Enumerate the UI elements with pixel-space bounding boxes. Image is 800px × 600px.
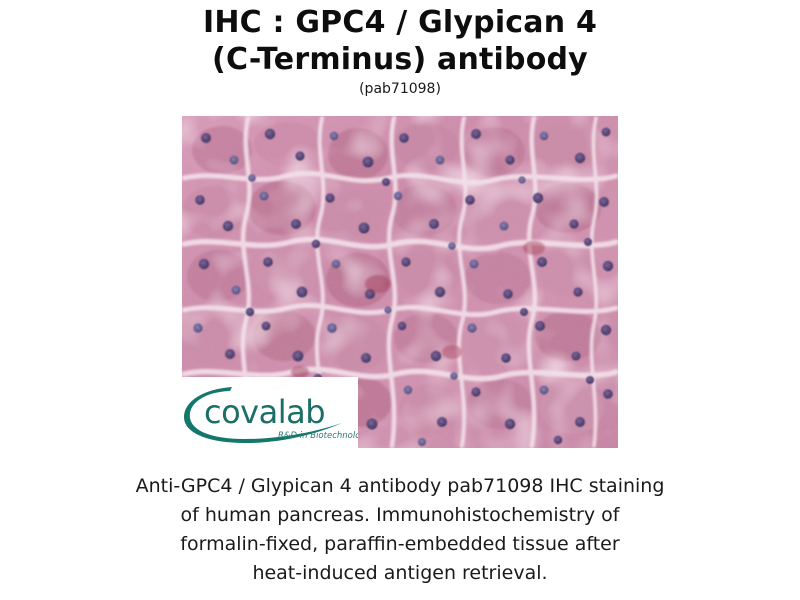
- page-title-line-1: IHC : GPC4 / Glypican 4: [0, 4, 800, 41]
- title-block: IHC : GPC4 / Glypican 4 (C-Terminus) ant…: [0, 4, 800, 98]
- figure-caption: Anti-GPC4 / Glypican 4 antibody pab71098…: [95, 472, 705, 588]
- covalab-tagline: R&D in Biotechnology: [278, 431, 358, 441]
- caption-line-4: heat-induced antigen retrieval.: [95, 559, 705, 588]
- covalab-logo: covalab R&D in Biotechnology: [182, 377, 358, 448]
- caption-line-3: formalin-fixed, paraffin-embedded tissue…: [95, 530, 705, 559]
- caption-line-1: Anti-GPC4 / Glypican 4 antibody pab71098…: [95, 472, 705, 501]
- page-title-line-2: (C-Terminus) antibody: [0, 41, 800, 78]
- catalog-number: (pab71098): [0, 80, 800, 98]
- caption-line-2: of human pancreas. Immunohistochemistry …: [95, 501, 705, 530]
- covalab-logo-mark: covalab R&D in Biotechnology: [182, 377, 358, 448]
- covalab-wordmark: covalab: [204, 393, 325, 431]
